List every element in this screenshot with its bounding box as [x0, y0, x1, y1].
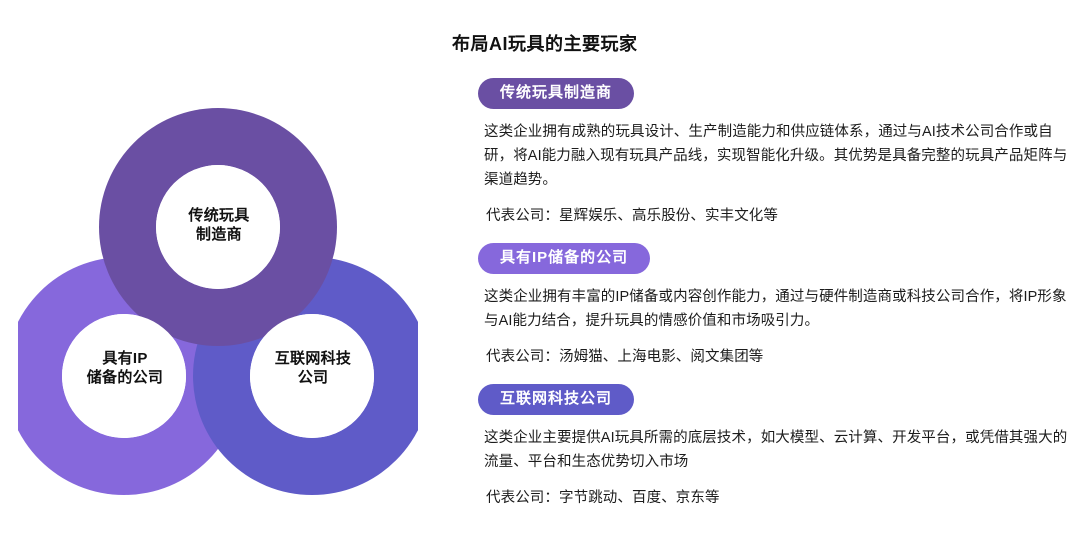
section-companies: 代表公司：星辉娱乐、高乐股份、实丰文化等	[486, 205, 1066, 227]
section-badge: 传统玩具制造商	[478, 78, 634, 109]
venn-label-line1: 互联网科技	[230, 349, 396, 368]
section-body: 这类企业拥有丰富的IP储备或内容创作能力，通过与硬件制造商或科技公司合作，将IP…	[484, 285, 1070, 333]
section-badge: 互联网科技公司	[478, 384, 634, 415]
section-badge: 具有IP储备的公司	[478, 243, 650, 274]
venn-label-internet-tech: 互联网科技 公司	[230, 349, 396, 387]
page-title: 布局AI玩具的主要玩家	[452, 30, 1066, 56]
venn-label-ip-companies: 具有IP 储备的公司	[42, 349, 208, 387]
section-internet-tech: 互联网科技公司 这类企业主要提供AI玩具所需的底层技术，如大模型、云计算、开发平…	[452, 384, 1066, 509]
content-column: 布局AI玩具的主要玩家 传统玩具制造商 这类企业拥有成熟的玩具设计、生产制造能力…	[452, 30, 1066, 509]
venn-label-line1: 具有IP	[42, 349, 208, 368]
section-companies: 代表公司：字节跳动、百度、京东等	[486, 487, 1066, 509]
venn-label-line2: 公司	[230, 368, 396, 387]
section-companies: 代表公司：汤姆猫、上海电影、阅文集团等	[486, 346, 1066, 368]
section-body: 这类企业主要提供AI玩具所需的底层技术，如大模型、云计算、开发平台，或凭借其强大…	[484, 426, 1070, 474]
venn-label-line1: 传统玩具	[136, 206, 302, 225]
venn-ring-traditional-toymakers	[18, 104, 418, 504]
venn-label-line2: 储备的公司	[42, 368, 208, 387]
venn-label-line2: 制造商	[136, 225, 302, 244]
venn-label-traditional-toymakers: 传统玩具 制造商	[136, 206, 302, 244]
section-traditional-toymakers: 传统玩具制造商 这类企业拥有成熟的玩具设计、生产制造能力和供应链体系，通过与AI…	[452, 78, 1066, 227]
venn-diagram: 传统玩具 制造商 具有IP 储备的公司 互联网科技 公司	[18, 104, 418, 504]
section-body: 这类企业拥有成熟的玩具设计、生产制造能力和供应链体系，通过与AI技术公司合作或自…	[484, 120, 1070, 192]
section-ip-companies: 具有IP储备的公司 这类企业拥有丰富的IP储备或内容创作能力，通过与硬件制造商或…	[452, 243, 1066, 368]
infographic-page: 传统玩具 制造商 具有IP 储备的公司 互联网科技 公司 布局AI玩具的主要玩家…	[0, 0, 1080, 548]
